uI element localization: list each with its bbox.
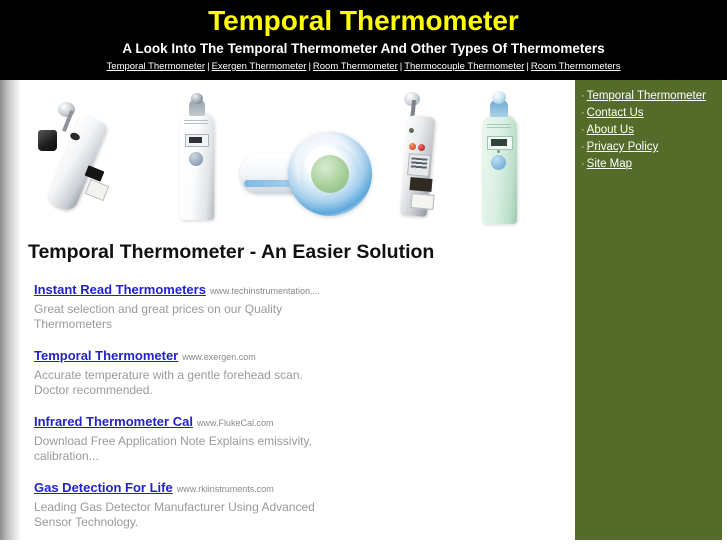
product-image-white-angled-temporal-thermometer-with-black-cap (34, 98, 154, 218)
ad-description: Leading Gas Detector Manufacturer Using … (34, 497, 324, 530)
lens-outer-ring-icon (288, 132, 372, 216)
ad-description: Great selection and great prices on our … (34, 299, 324, 332)
main-content: Temporal Thermometer - An Easier Solutio… (22, 80, 570, 545)
nav-link-exergen-thermometer[interactable]: Exergen Thermometer (212, 61, 307, 72)
site-tagline: A Look Into The Temporal Thermometer And… (0, 38, 727, 57)
probe-cap-icon (38, 130, 57, 151)
product-image-strip (22, 80, 570, 235)
scan-button-icon (189, 152, 203, 166)
sidebar-item-site-map[interactable]: ·Site Map (581, 156, 716, 172)
left-gradient-edge (0, 80, 22, 545)
ad-item: Gas Detection For Lifewww.rkiinstruments… (34, 480, 354, 530)
indicator-light-orange-icon (409, 143, 416, 150)
sidebar-nav-list: ·Temporal Thermometer ·Contact Us ·About… (581, 88, 716, 172)
site-header: Temporal Thermometer A Look Into The Tem… (0, 0, 727, 80)
ad-item: Infrared Thermometer Calwww.FlukeCal.com… (34, 414, 354, 464)
sidebar-item-label[interactable]: Temporal Thermometer (587, 90, 706, 102)
ad-title-link[interactable]: Temporal Thermometer (34, 348, 178, 363)
sidebar-item-label[interactable]: Privacy Policy (587, 141, 659, 153)
nav-link-room-thermometer[interactable]: Room Thermometer (313, 61, 398, 72)
sidebar-item-label[interactable]: Contact Us (587, 107, 644, 119)
page-root: Temporal Thermometer A Look Into The Tem… (0, 0, 727, 545)
right-sidebar: ·Temporal Thermometer ·Contact Us ·About… (575, 80, 722, 545)
ad-title-line: Instant Read Thermometerswww.techinstrum… (34, 282, 354, 299)
sensor-tip-icon (191, 93, 203, 104)
ad-title-line: Infrared Thermometer Calwww.FlukeCal.com (34, 414, 354, 431)
sensor-tip-icon (492, 91, 506, 104)
ad-display-url: www.exergen.com (178, 352, 256, 362)
scan-button-icon (491, 155, 506, 170)
product-label-icon (410, 193, 434, 210)
ad-title-link[interactable]: Instant Read Thermometers (34, 282, 206, 297)
product-image-white-upright-digital-thermometer (170, 90, 230, 225)
sidebar-item-contact-us[interactable]: ·Contact Us (581, 105, 716, 121)
display-screen-icon (85, 165, 105, 182)
sidebar-item-label[interactable]: About Us (587, 124, 634, 136)
ad-display-url: www.FlukeCal.com (193, 418, 274, 428)
ad-title-line: Gas Detection For Lifewww.rkiinstruments… (34, 480, 354, 497)
ad-title-link[interactable]: Gas Detection For Life (34, 480, 173, 495)
product-image-mint-green-upright-digital-thermometer (472, 88, 534, 226)
display-screen-icon (487, 136, 513, 150)
nav-link-temporal-thermometer[interactable]: Temporal Thermometer (107, 61, 206, 72)
brand-text-icon (487, 124, 511, 129)
ad-block: Instant Read Thermometerswww.techinstrum… (22, 264, 570, 545)
indicator-light-green-icon (409, 128, 414, 133)
ad-display-url: www.rkiinstruments.com (173, 484, 274, 494)
nav-link-thermocouple-thermometer[interactable]: Thermocouple Thermometer (404, 61, 524, 72)
indicator-light-icon (497, 150, 500, 153)
sidebar-item-privacy-policy[interactable]: ·Privacy Policy (581, 139, 716, 155)
ad-item: Instant Read Thermometerswww.techinstrum… (34, 282, 354, 332)
ad-description: Download Free Application Note Explains … (34, 431, 324, 464)
ad-title-line: Temporal Thermometerwww.exergen.com (34, 348, 354, 365)
lens-mid-ring-icon (300, 144, 360, 204)
main-heading: Temporal Thermometer - An Easier Solutio… (22, 235, 570, 264)
indicator-light-red-icon (418, 144, 425, 151)
lens-glass-icon (311, 155, 349, 193)
product-image-blue-ring-lens-forehead-thermometer (240, 128, 372, 220)
product-label-icon (85, 179, 110, 201)
sidebar-item-temporal-thermometer[interactable]: ·Temporal Thermometer (581, 88, 716, 104)
product-image-gray-angled-probe-thermometer (384, 88, 454, 226)
brand-text-icon (184, 120, 208, 125)
sidebar-item-label[interactable]: Site Map (587, 158, 632, 170)
display-screen-icon (407, 153, 431, 177)
ad-description: Accurate temperature with a gentle foreh… (34, 365, 324, 398)
page-title: Temporal Thermometer (0, 0, 727, 38)
ad-display-url: www.techinstrumentation.... (206, 286, 320, 296)
thermometer-body (180, 112, 214, 220)
nav-link-room-thermometers[interactable]: Room Thermometers (531, 61, 621, 72)
top-nav: Temporal Thermometer|Exergen Thermometer… (0, 57, 727, 73)
ad-title-link[interactable]: Infrared Thermometer Cal (34, 414, 193, 429)
sidebar-item-about-us[interactable]: ·About Us (581, 122, 716, 138)
bottom-strip (0, 540, 727, 545)
grip-panel-icon (409, 177, 432, 192)
display-screen-icon (185, 134, 209, 147)
sidebar-right-gap (722, 80, 727, 545)
ad-item: Temporal Thermometerwww.exergen.com Accu… (34, 348, 354, 398)
